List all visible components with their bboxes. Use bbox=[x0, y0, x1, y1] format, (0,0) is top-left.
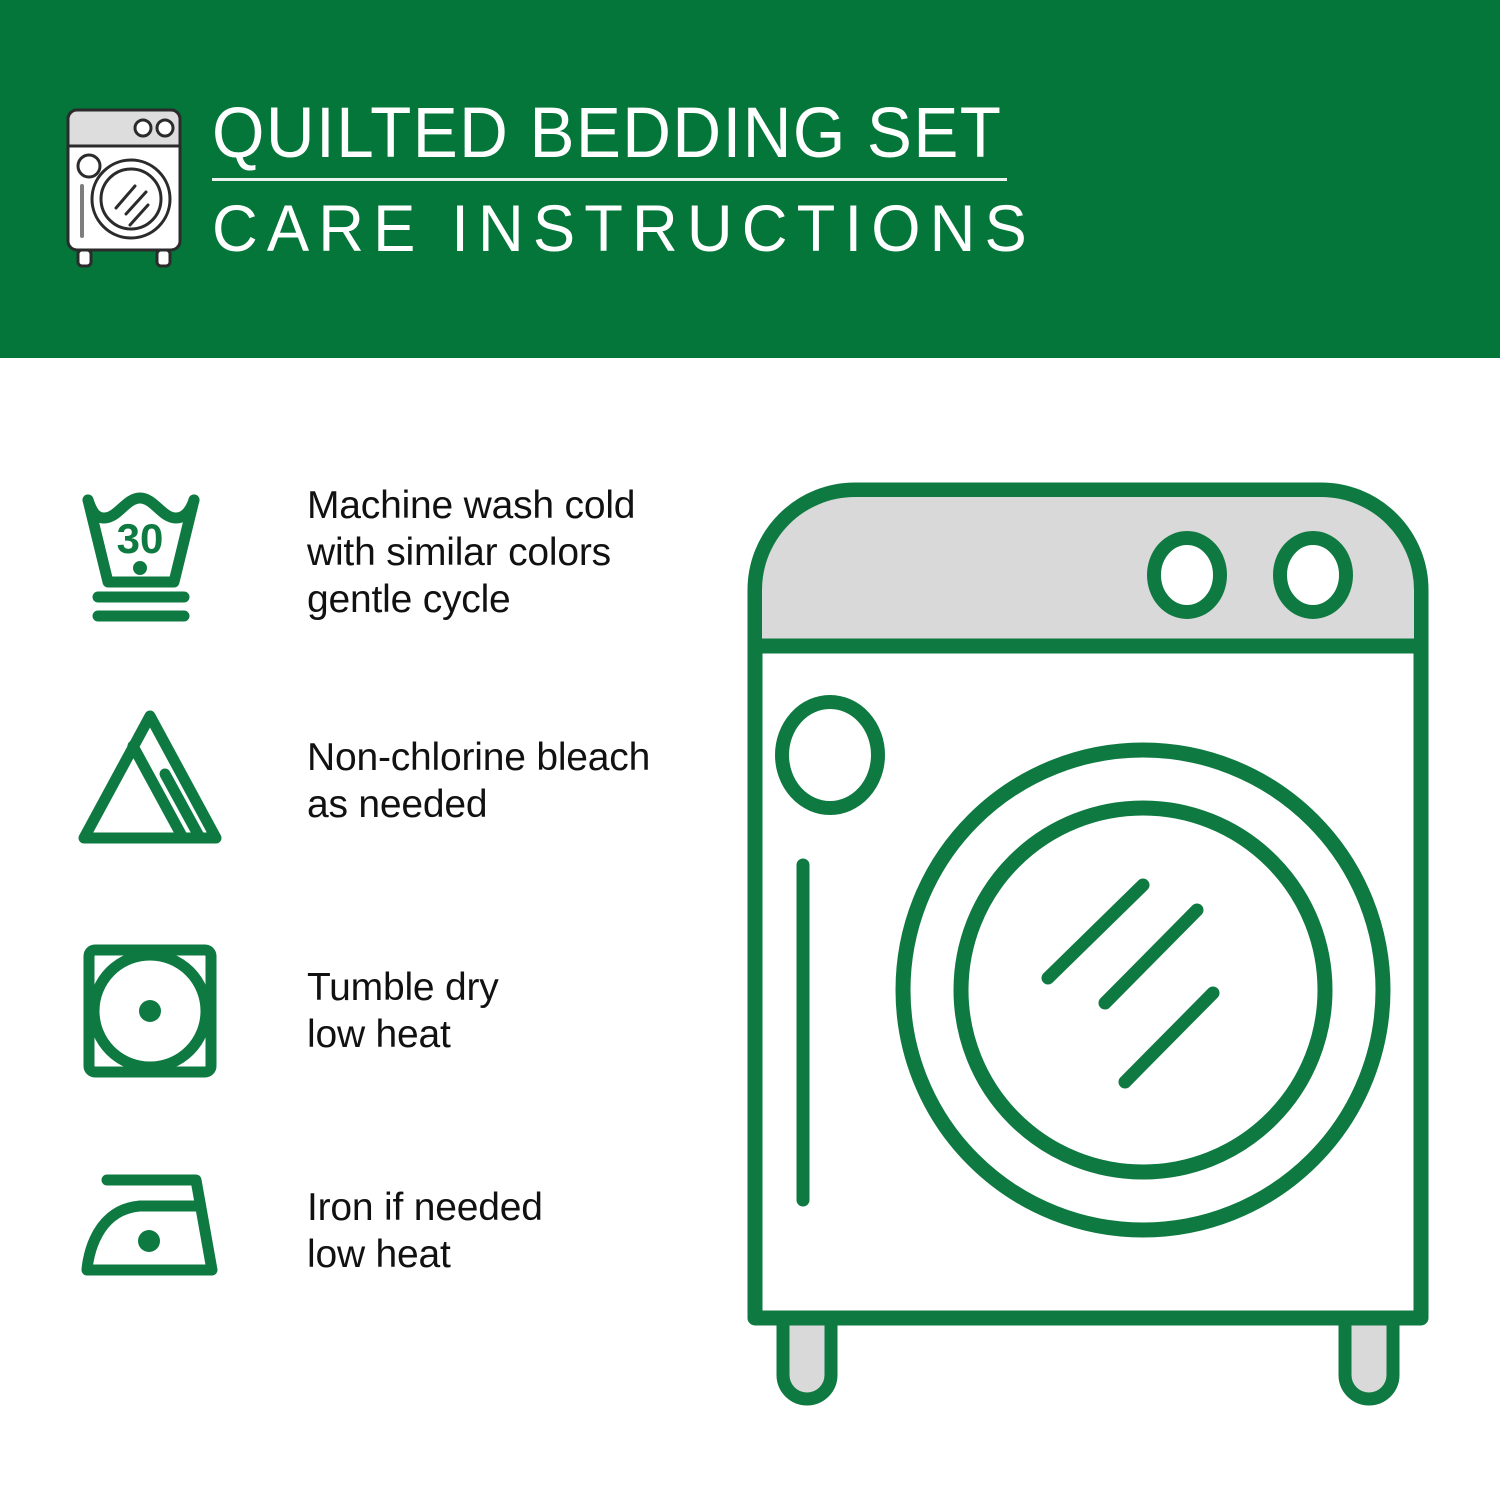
care-item-machine-wash: 30 Machine wash cold with similar colors… bbox=[70, 470, 635, 635]
care-item-iron: Iron if needed low heat bbox=[70, 1148, 543, 1313]
knob-right[interactable] bbox=[1280, 538, 1346, 612]
care-instructions-list: 30 Machine wash cold with similar colors… bbox=[0, 358, 740, 1500]
tumble-dry-low-icon bbox=[70, 928, 235, 1093]
header-content: QUILTED BEDDING SET CARE INSTRUCTIONS bbox=[60, 96, 1070, 271]
header-divider bbox=[212, 178, 1007, 181]
care-symbol-slot bbox=[70, 928, 235, 1093]
care-symbol-slot: 30 bbox=[70, 470, 235, 635]
wash-tub-30-icon: 30 bbox=[70, 470, 235, 635]
care-item-tumble-dry: Tumble dry low heat bbox=[70, 928, 499, 1093]
detergent-port[interactable] bbox=[782, 702, 878, 808]
washing-machine-icon bbox=[60, 104, 190, 269]
door-inner-ring bbox=[961, 808, 1325, 1172]
header-banner: QUILTED BEDDING SET CARE INSTRUCTIONS bbox=[0, 0, 1500, 358]
care-item-label: Non-chlorine bleach as needed bbox=[307, 734, 650, 828]
page-subtitle: CARE INSTRUCTIONS bbox=[212, 185, 1036, 271]
page-title: QUILTED BEDDING SET bbox=[212, 96, 1027, 172]
header-text-block: QUILTED BEDDING SET CARE INSTRUCTIONS bbox=[212, 96, 1070, 271]
wash-temperature-value: 30 bbox=[117, 515, 164, 562]
care-symbol-slot bbox=[70, 698, 235, 863]
front-load-washing-machine-illustration bbox=[735, 470, 1475, 1430]
care-item-bleach: Non-chlorine bleach as needed bbox=[70, 698, 650, 863]
care-item-label: Tumble dry low heat bbox=[307, 964, 499, 1058]
care-item-label: Iron if needed low heat bbox=[307, 1184, 543, 1278]
iron-low-heat-icon bbox=[70, 1148, 235, 1313]
care-item-label: Machine wash cold with similar colors ge… bbox=[307, 482, 635, 623]
knob-left[interactable] bbox=[1154, 538, 1220, 612]
care-symbol-slot bbox=[70, 1148, 235, 1313]
bleach-triangle-icon bbox=[70, 698, 235, 863]
